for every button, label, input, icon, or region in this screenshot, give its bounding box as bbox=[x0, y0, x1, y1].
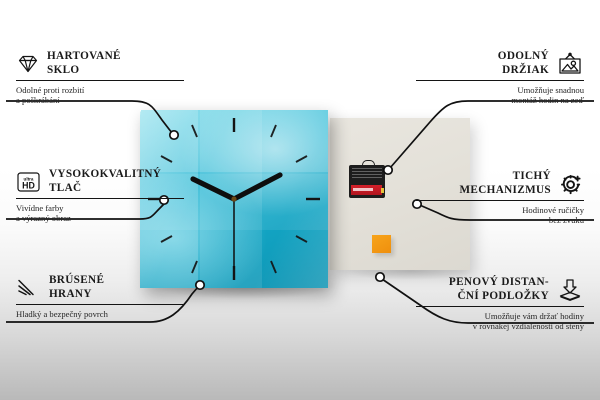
feature-title-line1: PENOVÝ DISTAN- bbox=[449, 276, 549, 290]
feature-heading: ODOLNÝ DRŽIAK bbox=[416, 50, 584, 77]
feature-subtitle-line1: Umožňuje vám držať hodiny bbox=[416, 311, 584, 322]
picture-hanger-icon bbox=[556, 52, 584, 76]
feature-divider bbox=[16, 198, 184, 199]
feature-title-line2: TLAČ bbox=[49, 182, 161, 196]
feature-divider bbox=[16, 304, 184, 305]
feature-title-line1: HARTOVANÉ bbox=[47, 50, 121, 64]
feature-heading: HARTOVANÉ SKLO bbox=[16, 50, 184, 77]
feature-subtitle-line2: bez zvuku bbox=[416, 215, 584, 226]
feature-divider bbox=[416, 200, 584, 201]
callout-dot-holder bbox=[384, 166, 392, 174]
feature-subtitle-line1: Hladký a bezpečný povrch bbox=[16, 309, 184, 320]
feature-subtitle-line1: Hodinové ručičky bbox=[416, 205, 584, 216]
feature-subtitle-line2: a výrazný obraz bbox=[16, 213, 184, 224]
feature-title-line2: HRANY bbox=[49, 288, 104, 302]
feature-heading: TICHÝ MECHANIZMUS bbox=[416, 170, 584, 197]
feature-divider bbox=[416, 306, 584, 307]
ground-edges-icon bbox=[16, 277, 42, 299]
callout-dot-hardened-glass bbox=[170, 131, 178, 139]
feature-foam-spacers[interactable]: PENOVÝ DISTAN- ČNÍ PODLOŽKY Umožňuje vám… bbox=[416, 276, 584, 332]
feature-heading: PENOVÝ DISTAN- ČNÍ PODLOŽKY bbox=[416, 276, 584, 303]
feature-subtitle-line1: Umožňuje snadnou bbox=[416, 85, 584, 96]
feature-subtitle-line2: a poškrábání bbox=[16, 95, 184, 106]
feature-subtitle-line2: v rovnakej vzdialenosti od steny bbox=[416, 321, 584, 332]
diamond-icon bbox=[16, 54, 40, 74]
feature-title-line1: TICHÝ bbox=[460, 170, 552, 184]
feature-divider bbox=[416, 80, 584, 81]
callout-dot-ground-edges bbox=[196, 281, 204, 289]
feature-divider bbox=[16, 80, 184, 81]
feature-silent-mechanism[interactable]: TICHÝ MECHANIZMUS Hodinové ručičky bez z… bbox=[416, 170, 584, 226]
feature-title-line1: VYSOKOKVALITNÝ bbox=[49, 168, 161, 182]
gear-icon bbox=[558, 172, 584, 196]
feature-heading: ultra HD VYSOKOKVALITNÝ TLAČ bbox=[16, 168, 184, 195]
infographic-canvas: HARTOVANÉ SKLO Odolné proti rozbití a po… bbox=[0, 0, 600, 400]
foam-spacer-icon bbox=[556, 278, 584, 302]
ultra-hd-icon: ultra HD bbox=[16, 171, 42, 193]
feature-heading: BRÚSENÉ HRANY bbox=[16, 274, 184, 301]
feature-title-line2: SKLO bbox=[47, 64, 121, 78]
feature-title-line2: MECHANIZMUS bbox=[460, 184, 552, 198]
feature-hd-print[interactable]: ultra HD VYSOKOKVALITNÝ TLAČ Vivídne far… bbox=[16, 168, 184, 224]
feature-title-line1: ODOLNÝ bbox=[498, 50, 549, 64]
feature-hardened-glass[interactable]: HARTOVANÉ SKLO Odolné proti rozbití a po… bbox=[16, 50, 184, 106]
feature-subtitle-line2: montáž hodin na zeď bbox=[416, 95, 584, 106]
feature-title-line1: BRÚSENÉ bbox=[49, 274, 104, 288]
feature-ground-edges[interactable]: BRÚSENÉ HRANY Hladký a bezpečný povrch bbox=[16, 274, 184, 319]
feature-subtitle-line1: Vivídne farby bbox=[16, 203, 184, 214]
ultra-hd-icon-large-label: HD bbox=[22, 180, 35, 190]
callout-dot-foam bbox=[376, 273, 384, 281]
feature-durable-holder[interactable]: ODOLNÝ DRŽIAK Umožňuje snadnou montáž ho… bbox=[416, 50, 584, 106]
feature-title-line2: ČNÍ PODLOŽKY bbox=[449, 290, 549, 304]
feature-title-line2: DRŽIAK bbox=[498, 64, 549, 78]
feature-subtitle-line1: Odolné proti rozbití bbox=[16, 85, 184, 96]
